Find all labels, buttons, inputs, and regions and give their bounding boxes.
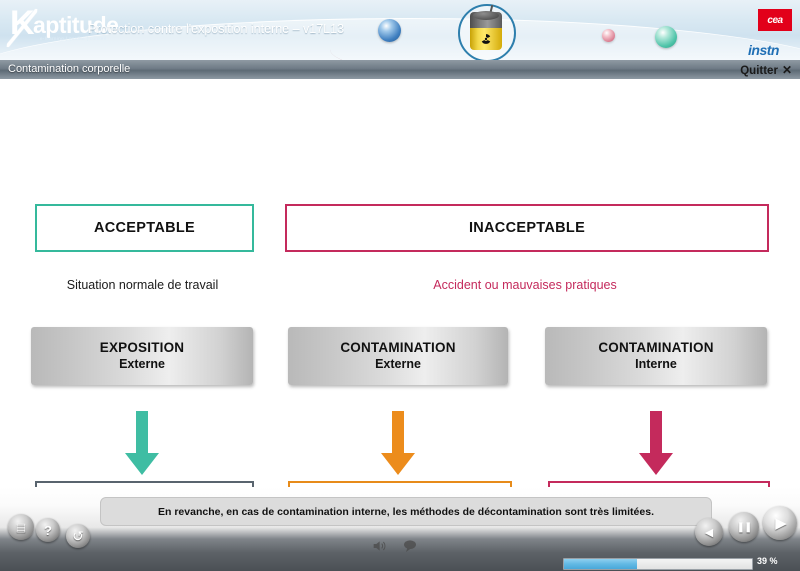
caption-acceptable: Situation normale de travail (35, 278, 250, 292)
scenario-2-line2: Externe (375, 357, 421, 373)
scenario-3-line1: CONTAMINATION (598, 340, 713, 357)
scenario-box-contamination-externe: CONTAMINATION Externe (288, 327, 508, 385)
arrow-3-head (639, 453, 673, 475)
nav-node-blue[interactable] (378, 19, 401, 42)
help-icon: ? (44, 523, 52, 538)
instn-logo: instn (748, 42, 779, 58)
close-icon: ✕ (782, 63, 792, 77)
quit-label: Quitter (740, 65, 778, 77)
scenario-3-line2: Interne (635, 357, 677, 373)
narration-bar: En revanche, en cas de contamination int… (100, 497, 712, 526)
app-header: K aptitude e-learning | qualité | consei… (0, 0, 800, 60)
pause-button[interactable]: ❚❚ (729, 512, 759, 542)
speech-bubble-icon[interactable] (402, 538, 418, 554)
replay-icon: ↺ (72, 528, 84, 545)
logo-letter-k: K (10, 4, 34, 43)
replay-button[interactable]: ↺ (66, 524, 90, 548)
cea-logo: cea (758, 9, 792, 31)
category-inacceptable-label: INACCEPTABLE (469, 220, 585, 236)
nav-node-pink[interactable] (602, 29, 615, 42)
category-inacceptable: INACCEPTABLE (285, 204, 769, 252)
progress-percent-label: 39 % (757, 556, 778, 566)
narration-text: En revanche, en cas de contamination int… (158, 506, 654, 518)
arrow-1-head (125, 453, 159, 475)
course-title: Protection contre l'exposition interne –… (88, 22, 344, 36)
cea-label: cea (767, 15, 782, 26)
previous-icon: ◀ (705, 526, 713, 539)
arrow-1-shaft (136, 411, 148, 455)
section-title: Contamination corporelle (8, 63, 130, 75)
arrow-down-teal-icon (125, 411, 159, 477)
play-button[interactable]: ▶ (763, 506, 797, 540)
volume-icon[interactable] (371, 538, 387, 554)
logo-tagline: e-learning | qualité | conseil (40, 36, 107, 41)
progress-bar[interactable] (563, 558, 753, 570)
caption-inacceptable: Accident ou mauvaises pratiques (285, 278, 765, 292)
scenario-1-line1: EXPOSITION (100, 340, 185, 357)
scenario-2-line1: CONTAMINATION (340, 340, 455, 357)
help-button[interactable]: ? (36, 518, 60, 542)
arrow-3-shaft (650, 411, 662, 455)
header-decorative-curve (330, 14, 800, 60)
radioactive-drum-icon[interactable] (470, 8, 502, 50)
slide-content: ACCEPTABLE INACCEPTABLE Situation normal… (0, 79, 800, 487)
category-acceptable-label: ACCEPTABLE (94, 220, 195, 236)
notes-button[interactable]: ▤ (8, 514, 34, 540)
scenario-box-contamination-interne: CONTAMINATION Interne (545, 327, 767, 385)
progress-fill (564, 559, 637, 569)
scenario-box-exposition-externe: EXPOSITION Externe (31, 327, 253, 385)
section-bar: Contamination corporelle (0, 60, 800, 79)
category-acceptable: ACCEPTABLE (35, 204, 254, 252)
previous-button[interactable]: ◀ (695, 518, 723, 546)
pause-icon: ❚❚ (737, 522, 752, 533)
scenario-1-line2: Externe (119, 357, 165, 373)
arrow-down-orange-icon (381, 411, 415, 477)
course-player: K aptitude e-learning | qualité | consei… (0, 0, 800, 571)
arrow-down-crimson-icon (639, 411, 673, 477)
notes-icon: ▤ (16, 521, 26, 534)
nav-node-green[interactable] (655, 26, 677, 48)
arrow-2-head (381, 453, 415, 475)
radioactive-trefoil-icon (480, 33, 492, 45)
play-icon: ▶ (775, 514, 787, 532)
drum-lid (473, 11, 499, 20)
arrow-2-shaft (392, 411, 404, 455)
quit-button[interactable]: Quitter✕ (740, 63, 792, 77)
